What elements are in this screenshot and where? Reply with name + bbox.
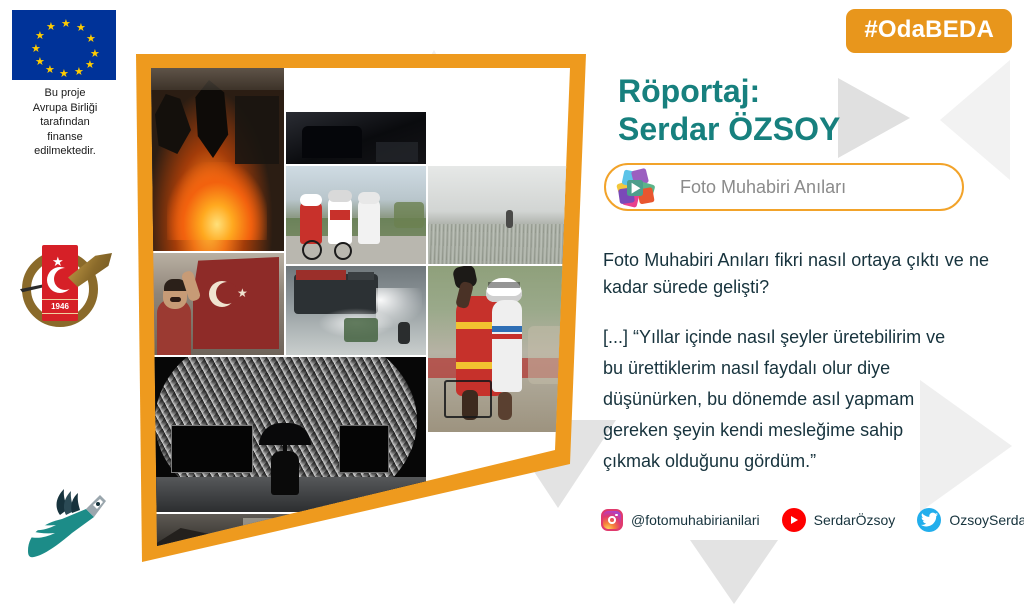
youtube-icon[interactable] bbox=[782, 508, 806, 532]
page-title: Röportaj: Serdar ÖZSOY bbox=[618, 72, 998, 148]
gazeteciler-cemiyeti-logo: ★ 1946 bbox=[16, 243, 112, 339]
instagram-handle: @fotomuhabirianilari bbox=[631, 512, 760, 528]
youtube-handle: SerdarÖzsoy bbox=[814, 512, 896, 528]
social-link-youtube[interactable]: SerdarÖzsoy bbox=[782, 508, 896, 532]
photo-cyclist-victory bbox=[428, 266, 574, 432]
photo-water-cannon bbox=[286, 266, 426, 355]
interview-question: Foto Muhabiri Anıları fikri nasıl ortaya… bbox=[603, 247, 989, 301]
twitter-handle: OzsoySerdar06 bbox=[949, 512, 1024, 528]
media-title-label: Foto Muhabiri Anıları bbox=[680, 177, 846, 198]
media-title-bar[interactable]: Foto Muhabiri Anıları bbox=[604, 163, 964, 211]
bird-pen-logo bbox=[14, 485, 114, 571]
social-link-instagram[interactable]: @fotomuhabirianilari bbox=[601, 509, 760, 531]
title-line-1: Röportaj: bbox=[618, 72, 998, 110]
photo-collage-frame: ★ bbox=[118, 34, 598, 582]
hashtag-badge[interactable]: #OdaBEDA bbox=[846, 9, 1012, 53]
interview-answer: [...] “Yıllar içinde nasıl şeyler üreteb… bbox=[603, 322, 963, 477]
photo-collage-play-icon[interactable] bbox=[614, 168, 656, 208]
association-year: 1946 bbox=[42, 299, 78, 314]
eu-funding-text: Bu proje Avrupa Birliği tarafından finan… bbox=[4, 86, 126, 159]
photo-foggy-field bbox=[428, 166, 574, 264]
photo-flag-protester: ★ bbox=[149, 253, 284, 355]
photo-icy-trees-umbrella bbox=[149, 357, 426, 512]
social-links: @fotomuhabirianilari SerdarÖzsoy OzsoySe… bbox=[601, 508, 1024, 532]
instagram-icon[interactable] bbox=[601, 509, 623, 531]
poster-canvas: ★ ★ ★ ★ ★ ★ ★ ★ ★ ★ ★ ★ Bu proje Avrupa … bbox=[0, 0, 1024, 614]
decorative-triangle-down-small bbox=[690, 540, 778, 604]
title-line-2: Serdar ÖZSOY bbox=[618, 110, 998, 148]
european-union-flag: ★ ★ ★ ★ ★ ★ ★ ★ ★ ★ ★ ★ bbox=[12, 10, 116, 80]
photo-night-crowd bbox=[286, 112, 426, 164]
photo-cyclists-road bbox=[286, 166, 426, 264]
sidebar: ★ ★ ★ ★ ★ ★ ★ ★ ★ ★ ★ ★ Bu proje Avrupa … bbox=[0, 0, 130, 614]
photo-protest-fire bbox=[149, 66, 284, 251]
twitter-icon[interactable] bbox=[917, 508, 941, 532]
collage-grid: ★ bbox=[149, 66, 574, 552]
social-link-twitter[interactable]: OzsoySerdar06 bbox=[917, 508, 1024, 532]
